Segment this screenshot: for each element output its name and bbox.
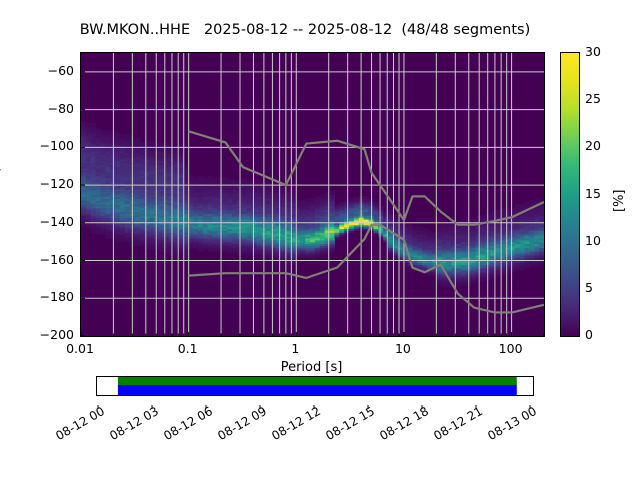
- density-cell: [120, 134, 125, 136]
- y-tick-label: −120: [40, 176, 74, 191]
- density-cell: [364, 196, 369, 198]
- density-cell: [222, 178, 227, 180]
- density-cell: [135, 138, 140, 140]
- density-cell: [505, 208, 510, 210]
- colorbar-label: [%]: [612, 190, 627, 213]
- density-cell: [325, 193, 330, 195]
- y-tick-label: −100: [40, 138, 74, 153]
- timeline-date-label: 08-12 00: [45, 404, 107, 448]
- density-cell: [252, 179, 257, 181]
- density-cell: [203, 178, 208, 180]
- density-cell: [81, 121, 86, 123]
- colorbar-gradient: [561, 53, 579, 336]
- density-cell: [217, 178, 222, 180]
- density-cell: [422, 228, 427, 230]
- density-cell: [125, 134, 130, 136]
- density-cell: [213, 178, 218, 180]
- density-cell: [154, 144, 159, 146]
- x-tick-label: 1: [291, 341, 299, 356]
- y-tick-label: −80: [48, 101, 74, 116]
- ppsd-canvas: [81, 53, 544, 336]
- y-tick-label: −140: [40, 214, 74, 229]
- density-cell: [96, 128, 101, 130]
- timeline-bars: [97, 377, 533, 395]
- density-cell: [105, 130, 110, 132]
- density-cell: [476, 215, 481, 217]
- density-cell: [300, 200, 305, 202]
- density-cell: [227, 179, 232, 181]
- colorbar-tick-label: 20: [585, 138, 601, 153]
- colorbar-tick-label: 25: [585, 91, 601, 106]
- density-cell: [510, 208, 515, 210]
- density-cell: [378, 206, 383, 208]
- density-cell: [481, 215, 486, 217]
- x-tick-label: 0.1: [178, 341, 198, 356]
- x-tick-label: 0.01: [66, 341, 94, 356]
- x-axis-label: Period [s]: [80, 360, 543, 375]
- page-title: BW.MKON..HHE 2025-08-12 -- 2025-08-12 (4…: [0, 22, 610, 38]
- density-cell: [159, 144, 164, 146]
- ppsd-plot-area[interactable]: [80, 52, 545, 337]
- colorbar-tick-label: 10: [585, 233, 601, 248]
- y-tick-label: −60: [48, 63, 74, 78]
- density-cell: [486, 213, 491, 215]
- density-cell: [305, 198, 310, 200]
- density-cell: [330, 191, 335, 193]
- density-cell: [344, 200, 349, 202]
- colorbar-tick-label: 0: [585, 327, 593, 342]
- y-tick-label: −200: [40, 327, 74, 342]
- density-cell: [461, 219, 466, 221]
- density-cell: [256, 179, 261, 181]
- density-cell: [339, 202, 344, 204]
- timeline-tick-marks: [96, 396, 536, 402]
- density-cell: [320, 195, 325, 197]
- density-cell: [232, 179, 237, 181]
- density-cell: [349, 198, 354, 200]
- data-coverage-timeline[interactable]: [96, 376, 534, 396]
- colorbar[interactable]: [560, 52, 580, 337]
- density-cell: [242, 178, 247, 180]
- density-cell: [193, 178, 198, 180]
- density-cell: [534, 198, 539, 200]
- density-cell: [388, 210, 393, 212]
- timeline-blue-bar: [118, 385, 517, 395]
- y-tick-label: −160: [40, 252, 74, 267]
- density-cell: [417, 227, 422, 229]
- density-cell: [437, 219, 442, 221]
- ppsd-figure: BW.MKON..HHE 2025-08-12 -- 2025-08-12 (4…: [0, 0, 640, 480]
- density-cell: [310, 198, 315, 200]
- x-tick-label: 100: [499, 341, 523, 356]
- density-cell: [515, 204, 520, 206]
- density-cell: [91, 123, 96, 125]
- colorbar-tick-label: 30: [585, 44, 601, 59]
- y-tick-label: −180: [40, 289, 74, 304]
- density-cell: [520, 204, 525, 206]
- density-cell: [383, 211, 388, 213]
- density-cell: [115, 132, 120, 134]
- x-tick-label: 10: [395, 341, 411, 356]
- density-cell: [334, 204, 339, 206]
- colorbar-tick-label: 15: [585, 186, 601, 201]
- density-cell: [247, 179, 252, 181]
- density-cell: [471, 219, 476, 221]
- density-cell: [427, 230, 432, 232]
- density-cell: [286, 187, 291, 189]
- density-cell: [354, 196, 359, 198]
- density-cell: [86, 123, 91, 125]
- density-cell: [100, 130, 105, 132]
- density-cell: [529, 200, 534, 202]
- y-axis-label: Amplitude [m2/s4/Hz] [dB]: [0, 22, 1, 193]
- density-cell: [315, 196, 320, 198]
- density-cell: [198, 176, 203, 178]
- density-cell: [412, 227, 417, 229]
- density-cell: [495, 210, 500, 212]
- density-cell: [525, 202, 530, 204]
- colorbar-tick-label: 5: [585, 280, 593, 295]
- density-cell: [139, 142, 144, 144]
- density-cell: [373, 202, 378, 204]
- timeline-green-bar: [118, 377, 517, 385]
- density-cell: [208, 176, 213, 178]
- density-cell: [149, 142, 154, 144]
- density-cell: [144, 142, 149, 144]
